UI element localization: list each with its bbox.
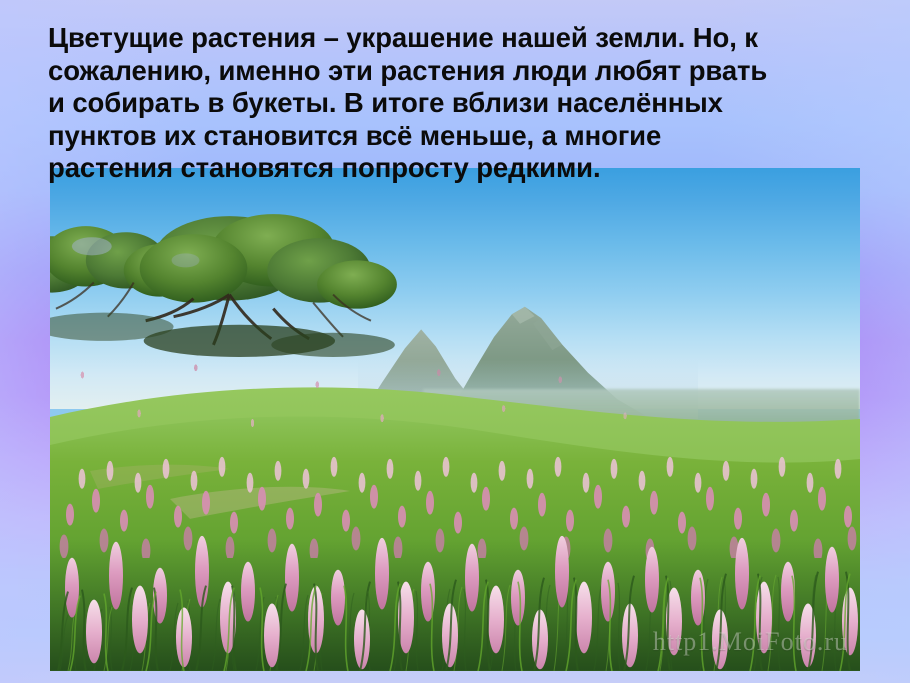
caption-line-4: пунктов их становится всё меньше, а мног…: [48, 120, 878, 153]
caption-line-3: и собирать в букеты. В итоге вблизи насе…: [48, 87, 878, 120]
nature-photo: http1.MoiFoto.ru: [50, 168, 860, 671]
slide-caption: Цветущие растения – украшение нашей земл…: [48, 22, 878, 185]
flower-field: [50, 339, 860, 671]
caption-line-5: растения становятся попросту редкими.: [48, 152, 878, 185]
slide-canvas: http1.MoiFoto.ru Цветущие растения – укр…: [0, 0, 910, 683]
caption-line-2: сожалению, именно эти растения люди любя…: [48, 55, 878, 88]
photo-watermark: http1.MoiFoto.ru: [653, 627, 848, 657]
caption-line-1: Цветущие растения – украшение нашей земл…: [48, 22, 878, 55]
